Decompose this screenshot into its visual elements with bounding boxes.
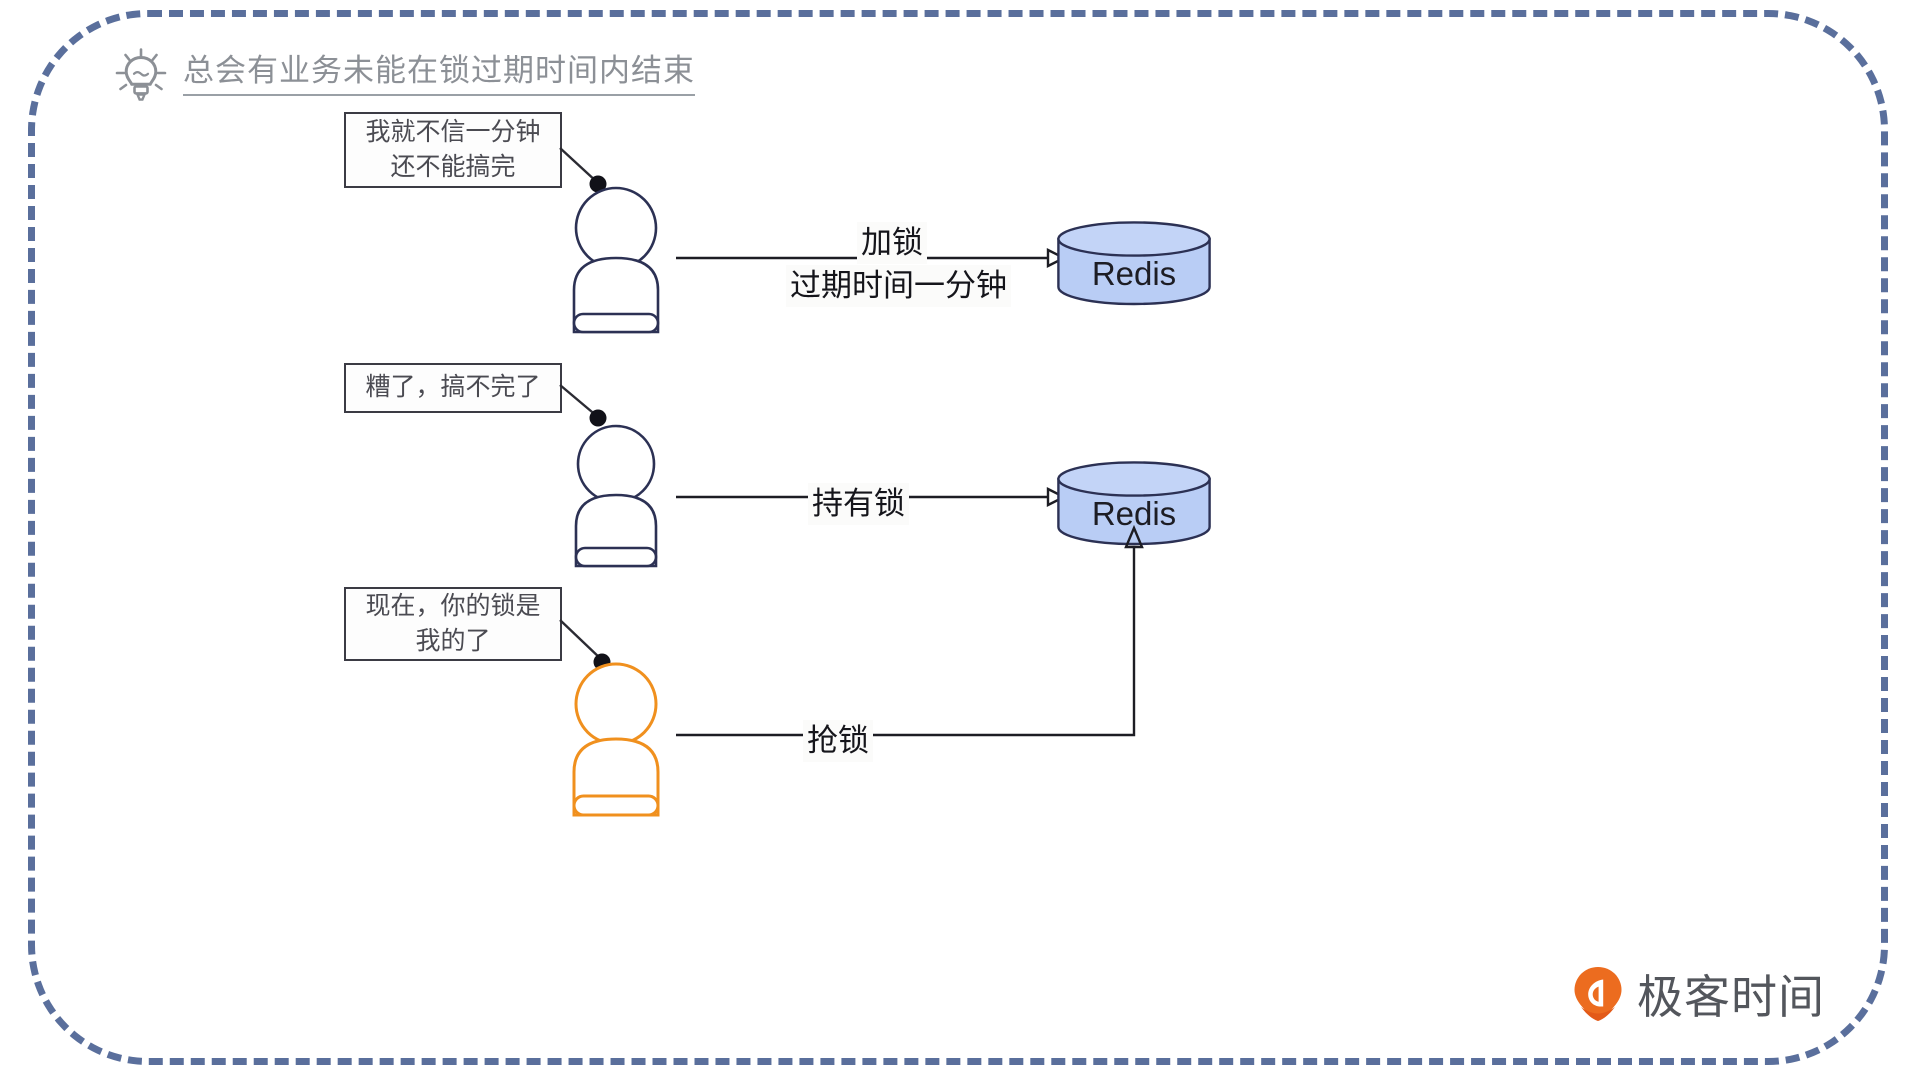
brand-logo-text: 极客时间 xyxy=(1637,961,1825,1027)
datastore-redis-top: Redis xyxy=(1057,221,1211,305)
speech-box-actor1: 我就不信一分钟 还不能搞完 xyxy=(344,112,562,188)
slide-canvas: 总会有业务未能在锁过期时间内结束 我就不信一分钟 还不能搞完 加锁 过期时间一分… xyxy=(0,0,1920,1077)
datastore-label: Redis xyxy=(1057,255,1211,293)
page-title: 总会有业务未能在锁过期时间内结束 xyxy=(183,54,695,95)
actor-actor2 xyxy=(552,424,680,568)
edge-label-lock-line1: 加锁 xyxy=(857,222,927,264)
speech-line: 我就不信一分钟 xyxy=(365,115,540,151)
speech-box-actor2: 糟了，搞不完了 xyxy=(344,363,562,413)
speech-box-actor3: 现在，你的锁是 我的了 xyxy=(344,587,562,661)
brand-logo: 极客时间 xyxy=(1572,961,1825,1027)
slide-title-row: 总会有业务未能在锁过期时间内结束 xyxy=(115,48,695,102)
edge-label-lock-line2: 过期时间一分钟 xyxy=(786,265,1011,307)
speech-line: 糟了，搞不完了 xyxy=(365,370,540,406)
actor-actor3 xyxy=(552,662,680,818)
actor-actor1 xyxy=(552,186,680,334)
speech-line: 现在，你的锁是 xyxy=(365,589,540,625)
edge-steal-line xyxy=(676,520,1156,750)
lightbulb-icon xyxy=(115,48,167,102)
speech-line: 我的了 xyxy=(415,624,490,660)
edge-label-steal: 抢锁 xyxy=(803,720,873,762)
geektime-pin-icon xyxy=(1572,966,1624,1022)
edge-label-hold: 持有锁 xyxy=(808,483,909,525)
speech-line: 还不能搞完 xyxy=(390,150,515,186)
